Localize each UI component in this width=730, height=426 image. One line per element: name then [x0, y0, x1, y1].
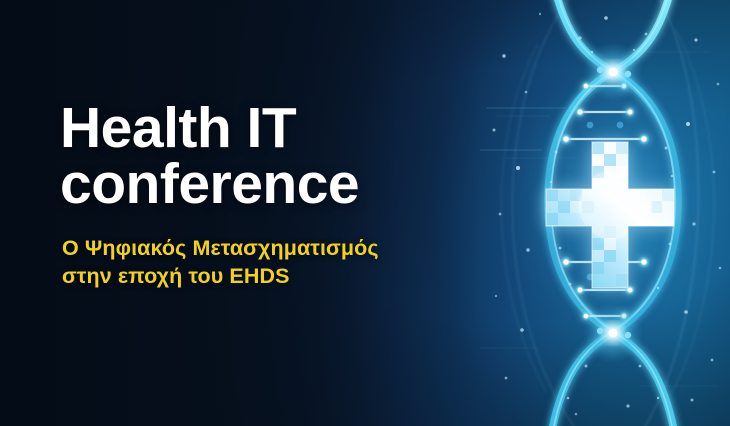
subtitle-line-1: Ο Ψηφιακός Μετασχηματισμός — [62, 235, 480, 263]
subtitle-line-2: στην εποχή του EHDS — [62, 263, 480, 291]
title-line-2: conference — [60, 156, 480, 212]
headline-block: Health IT conference Ο Ψηφιακός Μετασχημ… — [60, 100, 480, 291]
health-it-conference-banner: Health IT conference Ο Ψηφιακός Μετασχημ… — [0, 0, 730, 426]
dna-artwork — [480, 0, 730, 426]
page-subtitle: Ο Ψηφιακός Μετασχηματισμός στην εποχή το… — [62, 235, 480, 291]
title-line-1: Health IT — [60, 100, 480, 156]
page-title: Health IT conference — [60, 100, 480, 213]
